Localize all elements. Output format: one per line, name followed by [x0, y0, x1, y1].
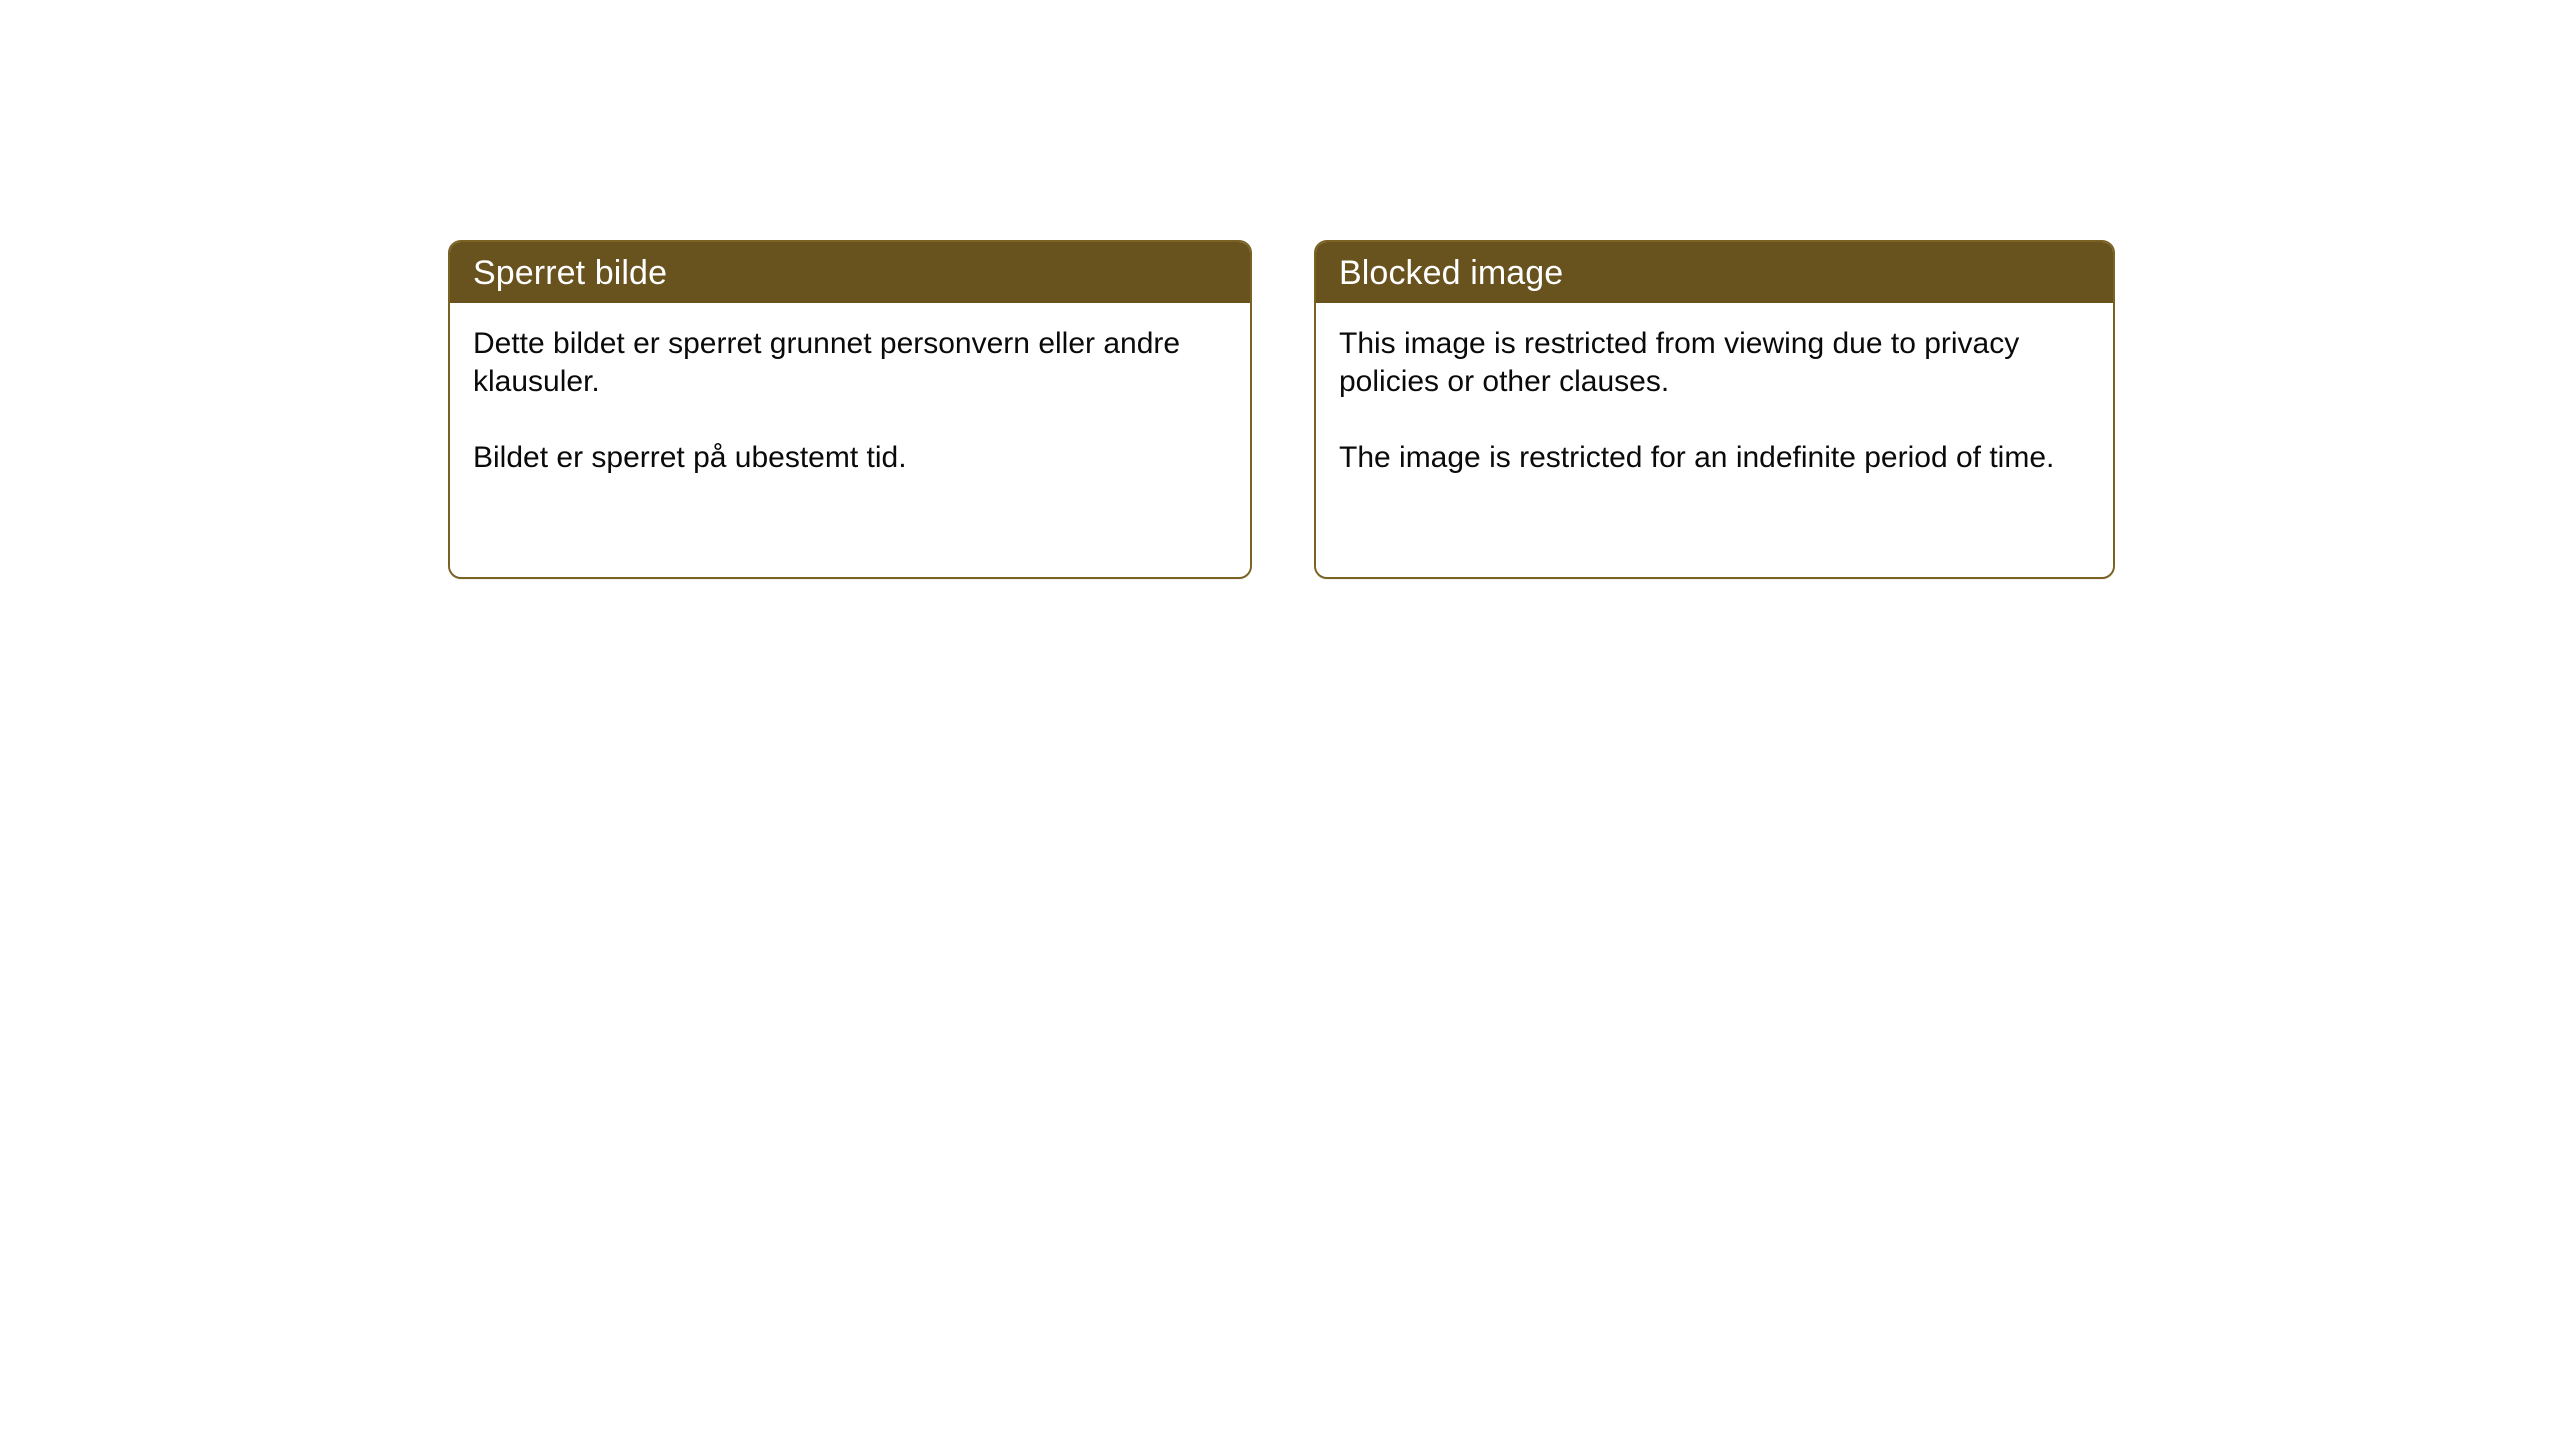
notice-paragraph-duration-norwegian: Bildet er sperret på ubestemt tid. — [473, 439, 1224, 477]
notice-header-english: Blocked image — [1316, 242, 2113, 303]
blocked-image-notice-card-english: Blocked image This image is restricted f… — [1314, 240, 2115, 579]
notice-body-english: This image is restricted from viewing du… — [1316, 303, 2113, 577]
notice-paragraph-reason-norwegian: Dette bildet er sperret grunnet personve… — [473, 325, 1224, 401]
notice-paragraph-reason-english: This image is restricted from viewing du… — [1339, 325, 2087, 401]
blocked-image-notice-group: Sperret bilde Dette bildet er sperret gr… — [448, 240, 2115, 579]
notice-title-english: Blocked image — [1339, 256, 1563, 290]
notice-paragraph-duration-english: The image is restricted for an indefinit… — [1339, 439, 2087, 477]
page-canvas: Sperret bilde Dette bildet er sperret gr… — [0, 0, 2560, 1440]
notice-header-norwegian: Sperret bilde — [450, 242, 1250, 303]
notice-title-norwegian: Sperret bilde — [473, 256, 667, 290]
notice-body-norwegian: Dette bildet er sperret grunnet personve… — [450, 303, 1250, 577]
blocked-image-notice-card-norwegian: Sperret bilde Dette bildet er sperret gr… — [448, 240, 1252, 579]
